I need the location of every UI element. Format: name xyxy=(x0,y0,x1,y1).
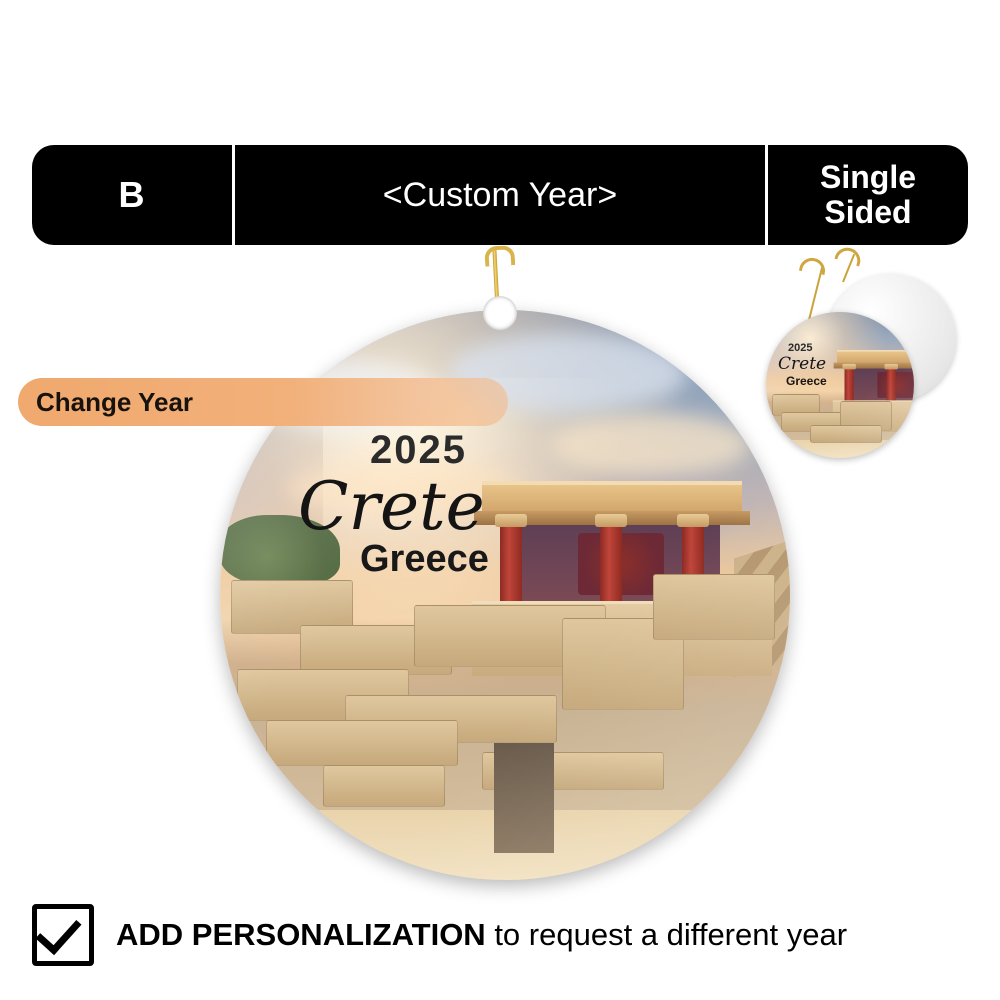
stone-block xyxy=(266,720,458,766)
personalization-bold-text: ADD PERSONALIZATION xyxy=(116,917,486,952)
sided-line-1: Single xyxy=(820,160,916,195)
palace-entablature xyxy=(482,481,742,515)
variant-letter: B xyxy=(32,145,232,245)
custom-year-label: <Custom Year> xyxy=(235,145,765,245)
change-year-label: Change Year xyxy=(36,387,193,418)
thumbnail-hook-loop-icon xyxy=(834,244,863,266)
thumb-year-text: 2025 xyxy=(788,342,812,354)
stone-block xyxy=(653,574,775,640)
variant-banner: B <Custom Year> Single Sided xyxy=(32,145,968,245)
personalization-rest-text: to request a different year xyxy=(486,917,847,952)
front-image-thumbnail: 2025 Crete Greece xyxy=(766,312,914,458)
stone-block xyxy=(323,765,445,807)
ornament-year-text: 2025 xyxy=(370,428,467,473)
change-year-callout[interactable]: Change Year xyxy=(18,378,508,426)
checkbox-checked-icon[interactable] xyxy=(32,904,94,966)
ornament-hanging-hole xyxy=(483,296,517,330)
personalization-footer: ADD PERSONALIZATION to request a differe… xyxy=(32,905,972,965)
sided-label: Single Sided xyxy=(768,145,968,245)
ornament-product: 2025 Crete Greece xyxy=(200,248,800,888)
thumb-country-text: Greece xyxy=(786,374,827,388)
ornament-thumbnail-cluster: 2025 Crete Greece xyxy=(748,252,958,472)
thumb-stone-block xyxy=(810,425,882,443)
thumb-city-text: Crete xyxy=(778,354,826,374)
stone-ruins xyxy=(220,561,790,880)
thumbnail-hook-loop-icon xyxy=(799,256,827,275)
ornament-city-text: Crete xyxy=(298,468,485,545)
personalization-text: ADD PERSONALIZATION to request a differe… xyxy=(116,917,847,953)
sided-line-2: Sided xyxy=(820,195,916,230)
ruin-doorway xyxy=(494,743,554,853)
thumb-ruins xyxy=(766,376,914,458)
ornament-country-text: Greece xyxy=(360,538,489,581)
cloud xyxy=(551,413,751,477)
